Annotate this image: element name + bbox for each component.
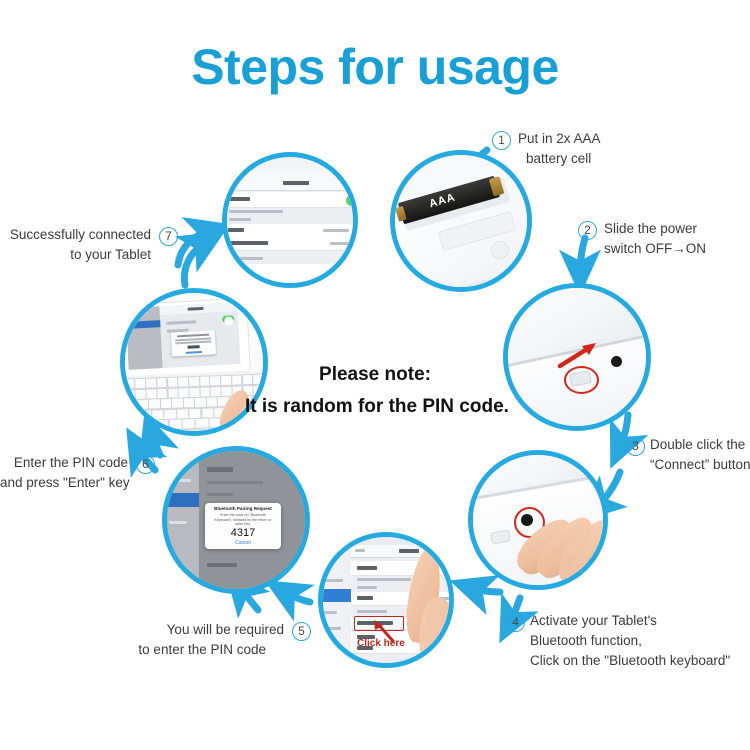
step-2-line-1: Slide the power bbox=[604, 219, 706, 239]
keyboard-key bbox=[195, 418, 210, 429]
step-badge-3: 3 bbox=[626, 437, 645, 456]
step-badge-4: 4 bbox=[506, 613, 525, 632]
step-badge-5: 5 bbox=[292, 622, 311, 641]
step-7-line-2: to your Tablet bbox=[0, 245, 155, 265]
step-4-line-1: Activate your Tablet's bbox=[530, 611, 730, 631]
step-1-line-2: battery cell bbox=[526, 149, 601, 169]
step-badge-1: 1 bbox=[492, 131, 511, 150]
step-caption-2: Slide the power switch OFF→ON bbox=[604, 219, 706, 259]
note-line-1: Please note: bbox=[275, 364, 475, 386]
click-here-annotation: Click here bbox=[357, 638, 405, 649]
battery-label: AAA bbox=[428, 191, 457, 210]
step-badge-7: 7 bbox=[159, 227, 178, 246]
keyboard-key bbox=[156, 377, 168, 388]
step-6-line-1: Enter the PIN code bbox=[0, 453, 132, 473]
step-5-line-2: to enter the PIN code bbox=[0, 640, 288, 660]
step-5-photo: Bluetooth Pairing Request Enter the code… bbox=[162, 446, 310, 594]
step-4-photo: Click here bbox=[318, 532, 454, 668]
step-badge-6: 6 bbox=[136, 455, 155, 474]
step-2-line-2: switch OFF→ON bbox=[604, 239, 706, 259]
step-caption-7: Successfully connected to your Tablet bbox=[0, 225, 155, 265]
step-3-photo bbox=[468, 450, 608, 590]
keyboard-key bbox=[182, 418, 197, 429]
step-1-line-1: Put in 2x AAA bbox=[518, 129, 601, 149]
step-2-photo bbox=[503, 283, 651, 431]
infographic-canvas: Steps for usage bbox=[0, 0, 750, 750]
keyboard-key bbox=[141, 420, 156, 431]
keyboard-key bbox=[263, 384, 268, 395]
step-4-line-2: Bluetooth function, bbox=[530, 631, 730, 651]
step-4-line-3: Click on the "Bluetooth keyboard" bbox=[530, 651, 730, 671]
step-caption-4: Activate your Tablet's Bluetooth functio… bbox=[530, 611, 730, 671]
keyboard-key bbox=[168, 419, 183, 430]
step-6-line-2: and press "Enter" key bbox=[0, 473, 132, 493]
step-1-photo: AAA bbox=[390, 150, 532, 292]
pairing-dialog: Bluetooth Pairing Request Enter the code… bbox=[205, 503, 281, 549]
step-7-photo bbox=[222, 152, 358, 288]
step-3-line-2: “Connect” button bbox=[650, 455, 750, 475]
keyboard-key bbox=[155, 419, 170, 430]
dialog-title: Bluetooth Pairing Request bbox=[205, 506, 281, 511]
step-caption-1: Put in 2x AAA battery cell bbox=[518, 129, 601, 169]
step-7-line-1: Successfully connected bbox=[0, 225, 155, 245]
page-title: Steps for usage bbox=[0, 38, 750, 96]
step-3-line-1: Double click the bbox=[650, 435, 750, 455]
dialog-cancel-button[interactable]: Cancel bbox=[205, 540, 281, 546]
step-caption-6: Enter the PIN code and press "Enter" key bbox=[0, 453, 132, 493]
keyboard-key bbox=[263, 373, 268, 384]
keyboard-key bbox=[128, 420, 143, 431]
dialog-body: Enter the code on "Bluetooth Keyboard", … bbox=[211, 513, 275, 527]
note-line-2: It is random for the PIN code. bbox=[245, 396, 505, 418]
dialog-pin: 4317 bbox=[205, 527, 281, 539]
keyboard-key bbox=[231, 374, 243, 385]
step-caption-3: Double click the “Connect” button bbox=[650, 435, 750, 475]
step-badge-2: 2 bbox=[578, 221, 597, 240]
step-5-line-1: You will be required bbox=[0, 620, 288, 640]
step-caption-5: You will be required to enter the PIN co… bbox=[0, 620, 288, 660]
red-arrow-icon bbox=[556, 336, 616, 376]
